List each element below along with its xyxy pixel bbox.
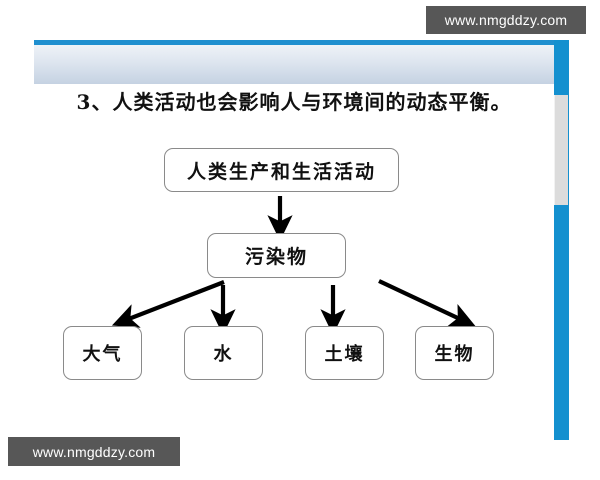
diagram-node-pollutant: 污染物 bbox=[207, 233, 346, 278]
watermark-bottom: www.nmgddzy.com bbox=[8, 437, 180, 466]
diagram-node-air: 大气 bbox=[63, 326, 142, 380]
diagram-node-soil: 土壤 bbox=[305, 326, 384, 380]
diagram-node-water: 水 bbox=[184, 326, 263, 380]
diagram-node-biology: 生物 bbox=[415, 326, 494, 380]
watermark-top: www.nmgddzy.com bbox=[426, 6, 586, 34]
flow-diagram: 人类生产和生活活动 污染物 大气 水 土壤 生物 bbox=[34, 40, 554, 438]
vertical-scrollbar-thumb[interactable] bbox=[554, 95, 568, 205]
arrow-pollutant-to-air bbox=[126, 282, 224, 320]
diagram-node-human-activity: 人类生产和生活活动 bbox=[164, 148, 399, 192]
presentation-slide: 3、人类活动也会影响人与环境间的动态平衡。 人类生产和生活活动 污染物 大气 bbox=[34, 40, 554, 438]
arrow-pollutant-to-biology bbox=[379, 281, 462, 320]
